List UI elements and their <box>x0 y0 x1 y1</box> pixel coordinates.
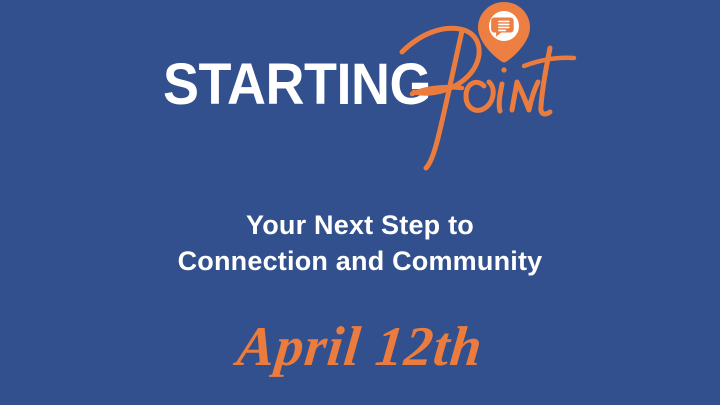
starting-point-logo: STARTING Point <box>0 0 720 170</box>
logo-word-starting: STARTING <box>163 56 431 114</box>
slide-canvas: STARTING Point <box>0 0 720 405</box>
subtitle-line-1: Your Next Step to <box>0 207 720 243</box>
subtitle: Your Next Step to Connection and Communi… <box>0 207 720 279</box>
subtitle-line-2: Connection and Community <box>0 243 720 279</box>
event-date: April 12th <box>0 316 720 378</box>
map-pin-chat-bubble-icon <box>476 1 532 63</box>
